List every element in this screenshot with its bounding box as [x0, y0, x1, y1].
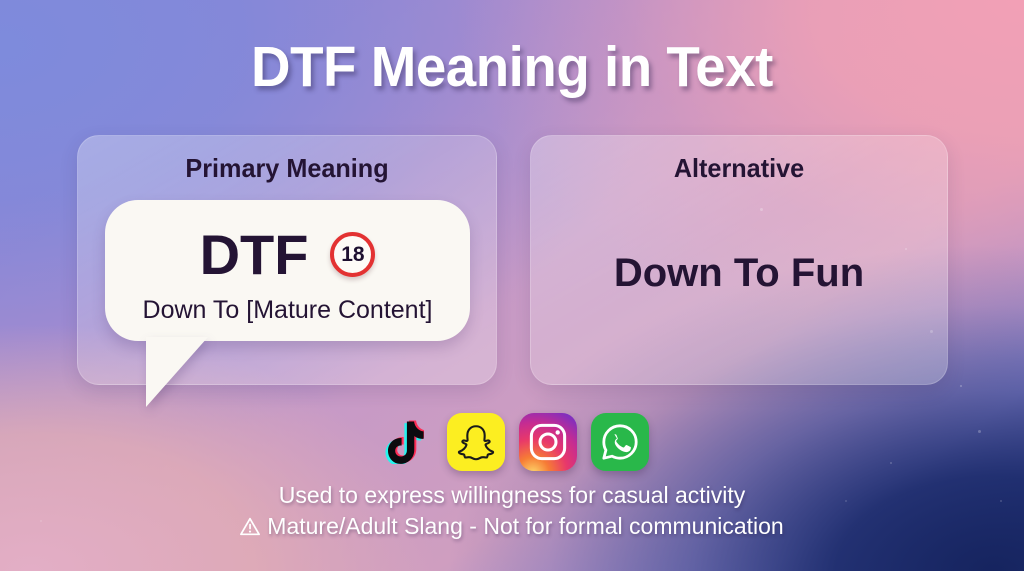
footer-notes: Used to express willingness for casual a… — [0, 480, 1024, 542]
card-header-primary: Primary Meaning — [84, 153, 489, 184]
acronym-expansion: Down To [Mature Content] — [105, 296, 470, 325]
speech-bubble: DTF 18 Down To [Mature Content] — [105, 200, 470, 341]
tiktok-icon[interactable] — [375, 413, 433, 471]
card-header-alternative: Alternative — [537, 153, 941, 184]
bubble-term-row: DTF 18 — [105, 222, 470, 287]
social-platform-icons — [0, 413, 1024, 471]
whatsapp-icon[interactable] — [591, 413, 649, 471]
warning-text: Mature/Adult Slang - Not for formal comm… — [267, 511, 783, 542]
acronym-text: DTF — [200, 222, 309, 287]
instagram-icon[interactable] — [519, 413, 577, 471]
age-rating-18-icon: 18 — [330, 232, 375, 277]
card-alternative-meaning: Alternative Down To Fun — [530, 135, 948, 385]
page-title: DTF Meaning in Text — [20, 34, 1003, 100]
usage-note: Used to express willingness for casual a… — [0, 480, 1024, 511]
alternative-meaning-text: Down To Fun — [531, 251, 947, 296]
speech-bubble-tail — [146, 337, 208, 407]
warning-triangle-icon — [240, 517, 260, 536]
snapchat-icon[interactable] — [447, 413, 505, 471]
warning-note: Mature/Adult Slang - Not for formal comm… — [0, 511, 1024, 542]
